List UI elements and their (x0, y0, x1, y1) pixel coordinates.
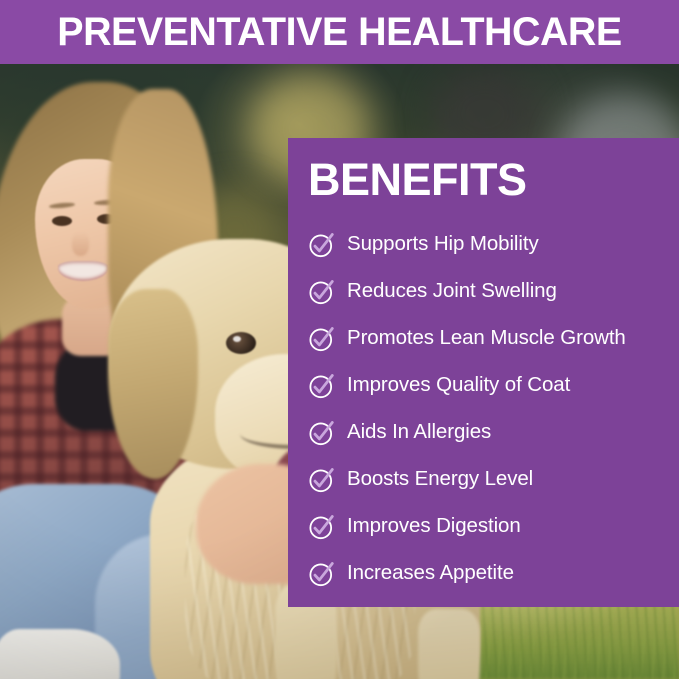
benefit-item: Boosts Energy Level (308, 456, 679, 503)
header-banner: PREVENTATIVE HEALTHCARE (0, 0, 679, 64)
check-circle-icon (308, 560, 336, 588)
check-circle-icon (308, 466, 336, 494)
benefit-item: Supports Hip Mobility (308, 221, 679, 268)
dog-leg (418, 609, 480, 679)
check-circle-icon (308, 513, 336, 541)
benefit-label: Boosts Energy Level (347, 468, 533, 491)
check-circle-icon (308, 419, 336, 447)
benefit-label: Promotes Lean Muscle Growth (347, 327, 626, 350)
benefit-label: Reduces Joint Swelling (347, 280, 557, 303)
check-circle-icon (308, 372, 336, 400)
benefit-label: Improves Quality of Coat (347, 374, 570, 397)
check-circle-icon (308, 278, 336, 306)
benefit-item: Improves Quality of Coat (308, 362, 679, 409)
benefit-label: Improves Digestion (347, 515, 521, 538)
benefit-item: Increases Appetite (308, 550, 679, 597)
benefit-item: Promotes Lean Muscle Growth (308, 315, 679, 362)
benefit-label: Aids In Allergies (347, 421, 491, 444)
benefits-panel: BENEFITS Supports Hip Mobility Reduces J… (288, 138, 679, 607)
benefit-item: Aids In Allergies (308, 409, 679, 456)
woman-nose (72, 232, 89, 256)
woman-eye (52, 216, 72, 226)
dog-eye (226, 332, 256, 354)
check-circle-icon (308, 231, 336, 259)
benefit-item: Reduces Joint Swelling (308, 268, 679, 315)
dog-eye-glint (233, 336, 241, 342)
benefits-heading: BENEFITS (308, 156, 679, 203)
benefit-label: Increases Appetite (347, 562, 514, 585)
product-infographic: PREVENTATIVE HEALTHCARE BENEFITS Support… (0, 0, 679, 679)
benefits-list: Supports Hip Mobility Reduces Joint Swel… (308, 221, 679, 597)
benefit-label: Supports Hip Mobility (347, 233, 539, 256)
benefit-item: Improves Digestion (308, 503, 679, 550)
page-title: PREVENTATIVE HEALTHCARE (57, 12, 621, 52)
woman-sneaker (0, 629, 120, 679)
check-circle-icon (308, 325, 336, 353)
